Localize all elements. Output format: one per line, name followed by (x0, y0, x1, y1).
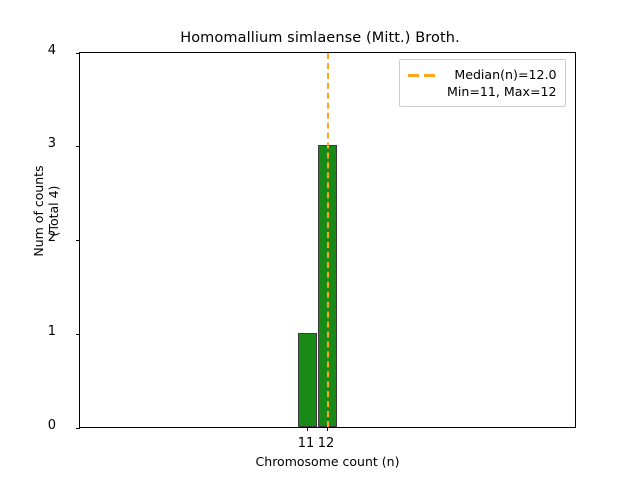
chart-figure: Homomallium simlaense (Mitt.) Broth. 0 1… (0, 0, 640, 480)
ytick-mark-2 (76, 240, 80, 241)
xtick-mark-12 (327, 427, 328, 431)
legend-entry-median: Median(n)=12.0 (447, 66, 557, 83)
ytick-label-0: 0 (16, 418, 56, 433)
plot-area (79, 52, 576, 428)
ytick-mark-3 (76, 146, 80, 147)
y-axis-label: Num of counts (Total 4) (31, 91, 61, 331)
legend-text: Median(n)=12.0 Min=11, Max=12 (447, 66, 557, 100)
dashed-line-swatch-icon (408, 67, 438, 84)
page-title: Homomallium simlaense (Mitt.) Broth. (0, 30, 640, 46)
ytick-mark-4 (76, 53, 80, 54)
median-line-layer (80, 53, 575, 427)
legend: Median(n)=12.0 Min=11, Max=12 (399, 59, 566, 107)
ytick-mark-1 (76, 334, 80, 335)
ytick-mark-0 (76, 428, 80, 429)
median-line (327, 53, 329, 427)
x-axis-label: Chromosome count (n) (79, 454, 576, 469)
legend-entry-minmax: Min=11, Max=12 (447, 83, 557, 100)
xtick-mark-11 (307, 427, 308, 431)
ytick-label-4: 4 (16, 43, 56, 58)
xtick-label-12: 12 (306, 436, 346, 451)
